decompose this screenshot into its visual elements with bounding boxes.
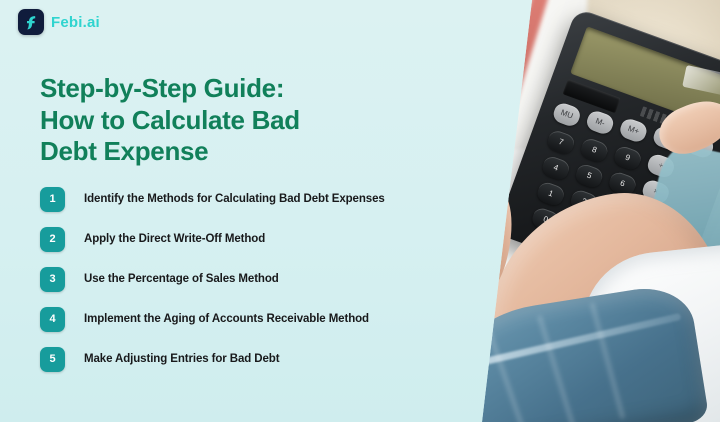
- calculator-key-8: 8: [579, 136, 610, 164]
- denim-fold: [537, 315, 577, 422]
- step-label: Implement the Aging of Accounts Receivab…: [84, 313, 369, 325]
- step-label: Identify the Methods for Calculating Bad…: [84, 193, 385, 205]
- page-title: Step-by-Step Guide: How to Calculate Bad…: [40, 73, 440, 167]
- denim-fold: [590, 302, 626, 419]
- list-item: 5 Make Adjusting Entries for Bad Debt: [40, 346, 510, 372]
- infographic-card: MU M- M+ GT % 7 8 9 ÷ 4 5 6 × 1 2 3 0 00…: [0, 0, 720, 422]
- calculator-key-4: 4: [540, 154, 571, 182]
- headline-line-1: Step-by-Step Guide:: [40, 73, 440, 104]
- screen-glare: [682, 65, 720, 99]
- step-number-badge: 4: [40, 307, 65, 332]
- steps-list: 1 Identify the Methods for Calculating B…: [40, 186, 510, 386]
- list-item: 1 Identify the Methods for Calculating B…: [40, 186, 510, 212]
- calculator-key-m-minus: M-: [584, 109, 615, 137]
- calculator-key-7: 7: [545, 129, 576, 157]
- content-layer: Febi.ai Step-by-Step Guide: How to Calcu…: [0, 0, 532, 422]
- febi-f-logo-icon: [18, 9, 44, 35]
- calculator-key-1: 1: [535, 180, 566, 208]
- step-number-badge: 2: [40, 227, 65, 252]
- calculator-key-9: 9: [612, 144, 643, 172]
- calculator-key-m-plus: M+: [618, 117, 649, 145]
- calculator-key-5: 5: [573, 162, 604, 190]
- brand-name: Febi.ai: [51, 14, 100, 31]
- headline-line-2: How to Calculate Bad: [40, 105, 440, 136]
- list-item: 2 Apply the Direct Write-Off Method: [40, 226, 510, 252]
- list-item: 3 Use the Percentage of Sales Method: [40, 266, 510, 292]
- step-number-badge: 1: [40, 187, 65, 212]
- step-number-badge: 5: [40, 347, 65, 372]
- step-number-badge: 3: [40, 267, 65, 292]
- step-label: Apply the Direct Write-Off Method: [84, 233, 265, 245]
- list-item: 4 Implement the Aging of Accounts Receiv…: [40, 306, 510, 332]
- headline-line-3: Debt Expense: [40, 136, 440, 167]
- brand-logo[interactable]: Febi.ai: [18, 9, 100, 35]
- step-label: Use the Percentage of Sales Method: [84, 273, 279, 285]
- calculator-key-mu: MU: [551, 101, 582, 129]
- step-label: Make Adjusting Entries for Bad Debt: [84, 353, 279, 365]
